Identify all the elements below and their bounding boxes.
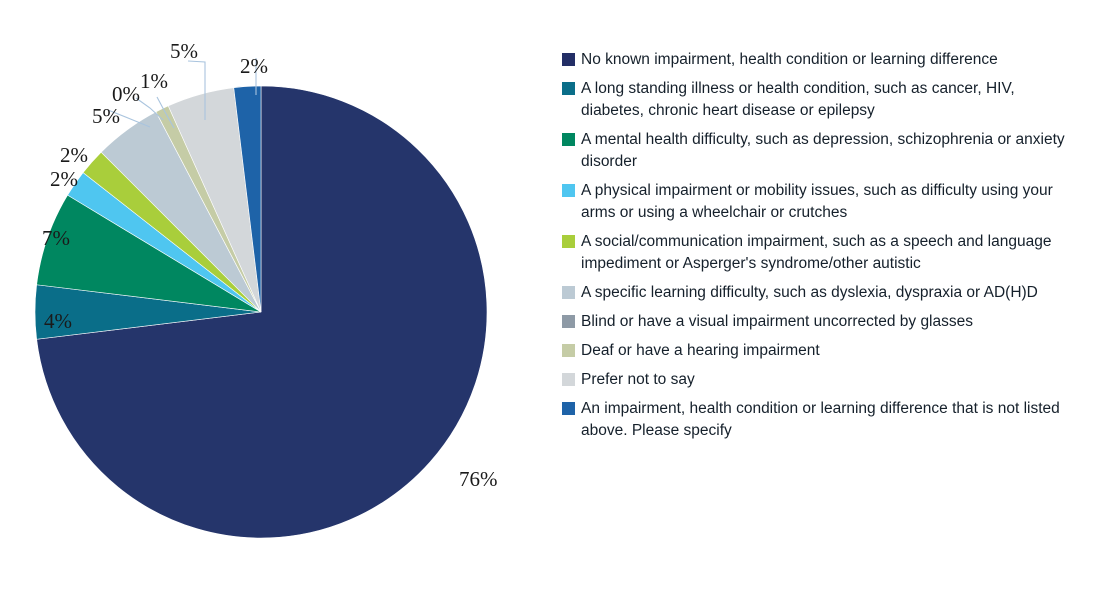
pie-slice-value-label: 2% — [240, 54, 268, 78]
legend-color-swatch — [562, 82, 575, 95]
legend-item[interactable]: Blind or have a visual impairment uncorr… — [562, 311, 1090, 333]
legend-item-label: A long standing illness or health condit… — [581, 78, 1081, 122]
legend-item-label: A social/communication impairment, such … — [581, 231, 1081, 275]
legend-item[interactable]: A mental health difficulty, such as depr… — [562, 129, 1090, 173]
legend-item[interactable]: A physical impairment or mobility issues… — [562, 180, 1090, 224]
legend-color-swatch — [562, 235, 575, 248]
legend-color-swatch — [562, 344, 575, 357]
pie-chart-figure: 76%4%7%2%2%5%0%1%5%2% No known impairmen… — [0, 0, 1102, 594]
legend-item-label: Deaf or have a hearing impairment — [581, 340, 820, 362]
legend-item[interactable]: No known impairment, health condition or… — [562, 49, 1090, 71]
legend-item[interactable]: A specific learning difficulty, such as … — [562, 282, 1090, 304]
legend-item-label: A physical impairment or mobility issues… — [581, 180, 1081, 224]
pie-slice-value-label: 76% — [459, 467, 498, 491]
legend-item-label: No known impairment, health condition or… — [581, 49, 998, 71]
legend-item-label: Prefer not to say — [581, 369, 695, 391]
chart-legend: No known impairment, health condition or… — [562, 49, 1090, 449]
legend-item-label: An impairment, health condition or learn… — [581, 398, 1081, 442]
legend-color-swatch — [562, 402, 575, 415]
pie-slices-group — [35, 86, 487, 538]
legend-color-swatch — [562, 373, 575, 386]
pie-slice-value-label: 7% — [42, 226, 70, 250]
pie-chart-svg: 76%4%7%2%2%5%0%1%5%2% — [0, 0, 545, 594]
legend-color-swatch — [562, 184, 575, 197]
legend-item-label: Blind or have a visual impairment uncorr… — [581, 311, 973, 333]
legend-item-label: A specific learning difficulty, such as … — [581, 282, 1038, 304]
pie-chart-plot-area: 76%4%7%2%2%5%0%1%5%2% — [0, 0, 545, 594]
pie-slice-value-label: 2% — [50, 167, 78, 191]
pie-slice-value-label: 0% — [112, 82, 140, 106]
legend-color-swatch — [562, 133, 575, 146]
legend-color-swatch — [562, 53, 575, 66]
pie-slice-value-label: 1% — [140, 69, 168, 93]
pie-slice-value-label: 5% — [170, 39, 198, 63]
legend-item[interactable]: A social/communication impairment, such … — [562, 231, 1090, 275]
legend-color-swatch — [562, 315, 575, 328]
pie-slice-value-label: 2% — [60, 143, 88, 167]
legend-item[interactable]: Deaf or have a hearing impairment — [562, 340, 1090, 362]
pie-slice-value-label: 5% — [92, 104, 120, 128]
legend-item[interactable]: A long standing illness or health condit… — [562, 78, 1090, 122]
pie-slice-value-label: 4% — [44, 309, 72, 333]
legend-item[interactable]: Prefer not to say — [562, 369, 1090, 391]
legend-item-label: A mental health difficulty, such as depr… — [581, 129, 1081, 173]
legend-item[interactable]: An impairment, health condition or learn… — [562, 398, 1090, 442]
legend-color-swatch — [562, 286, 575, 299]
